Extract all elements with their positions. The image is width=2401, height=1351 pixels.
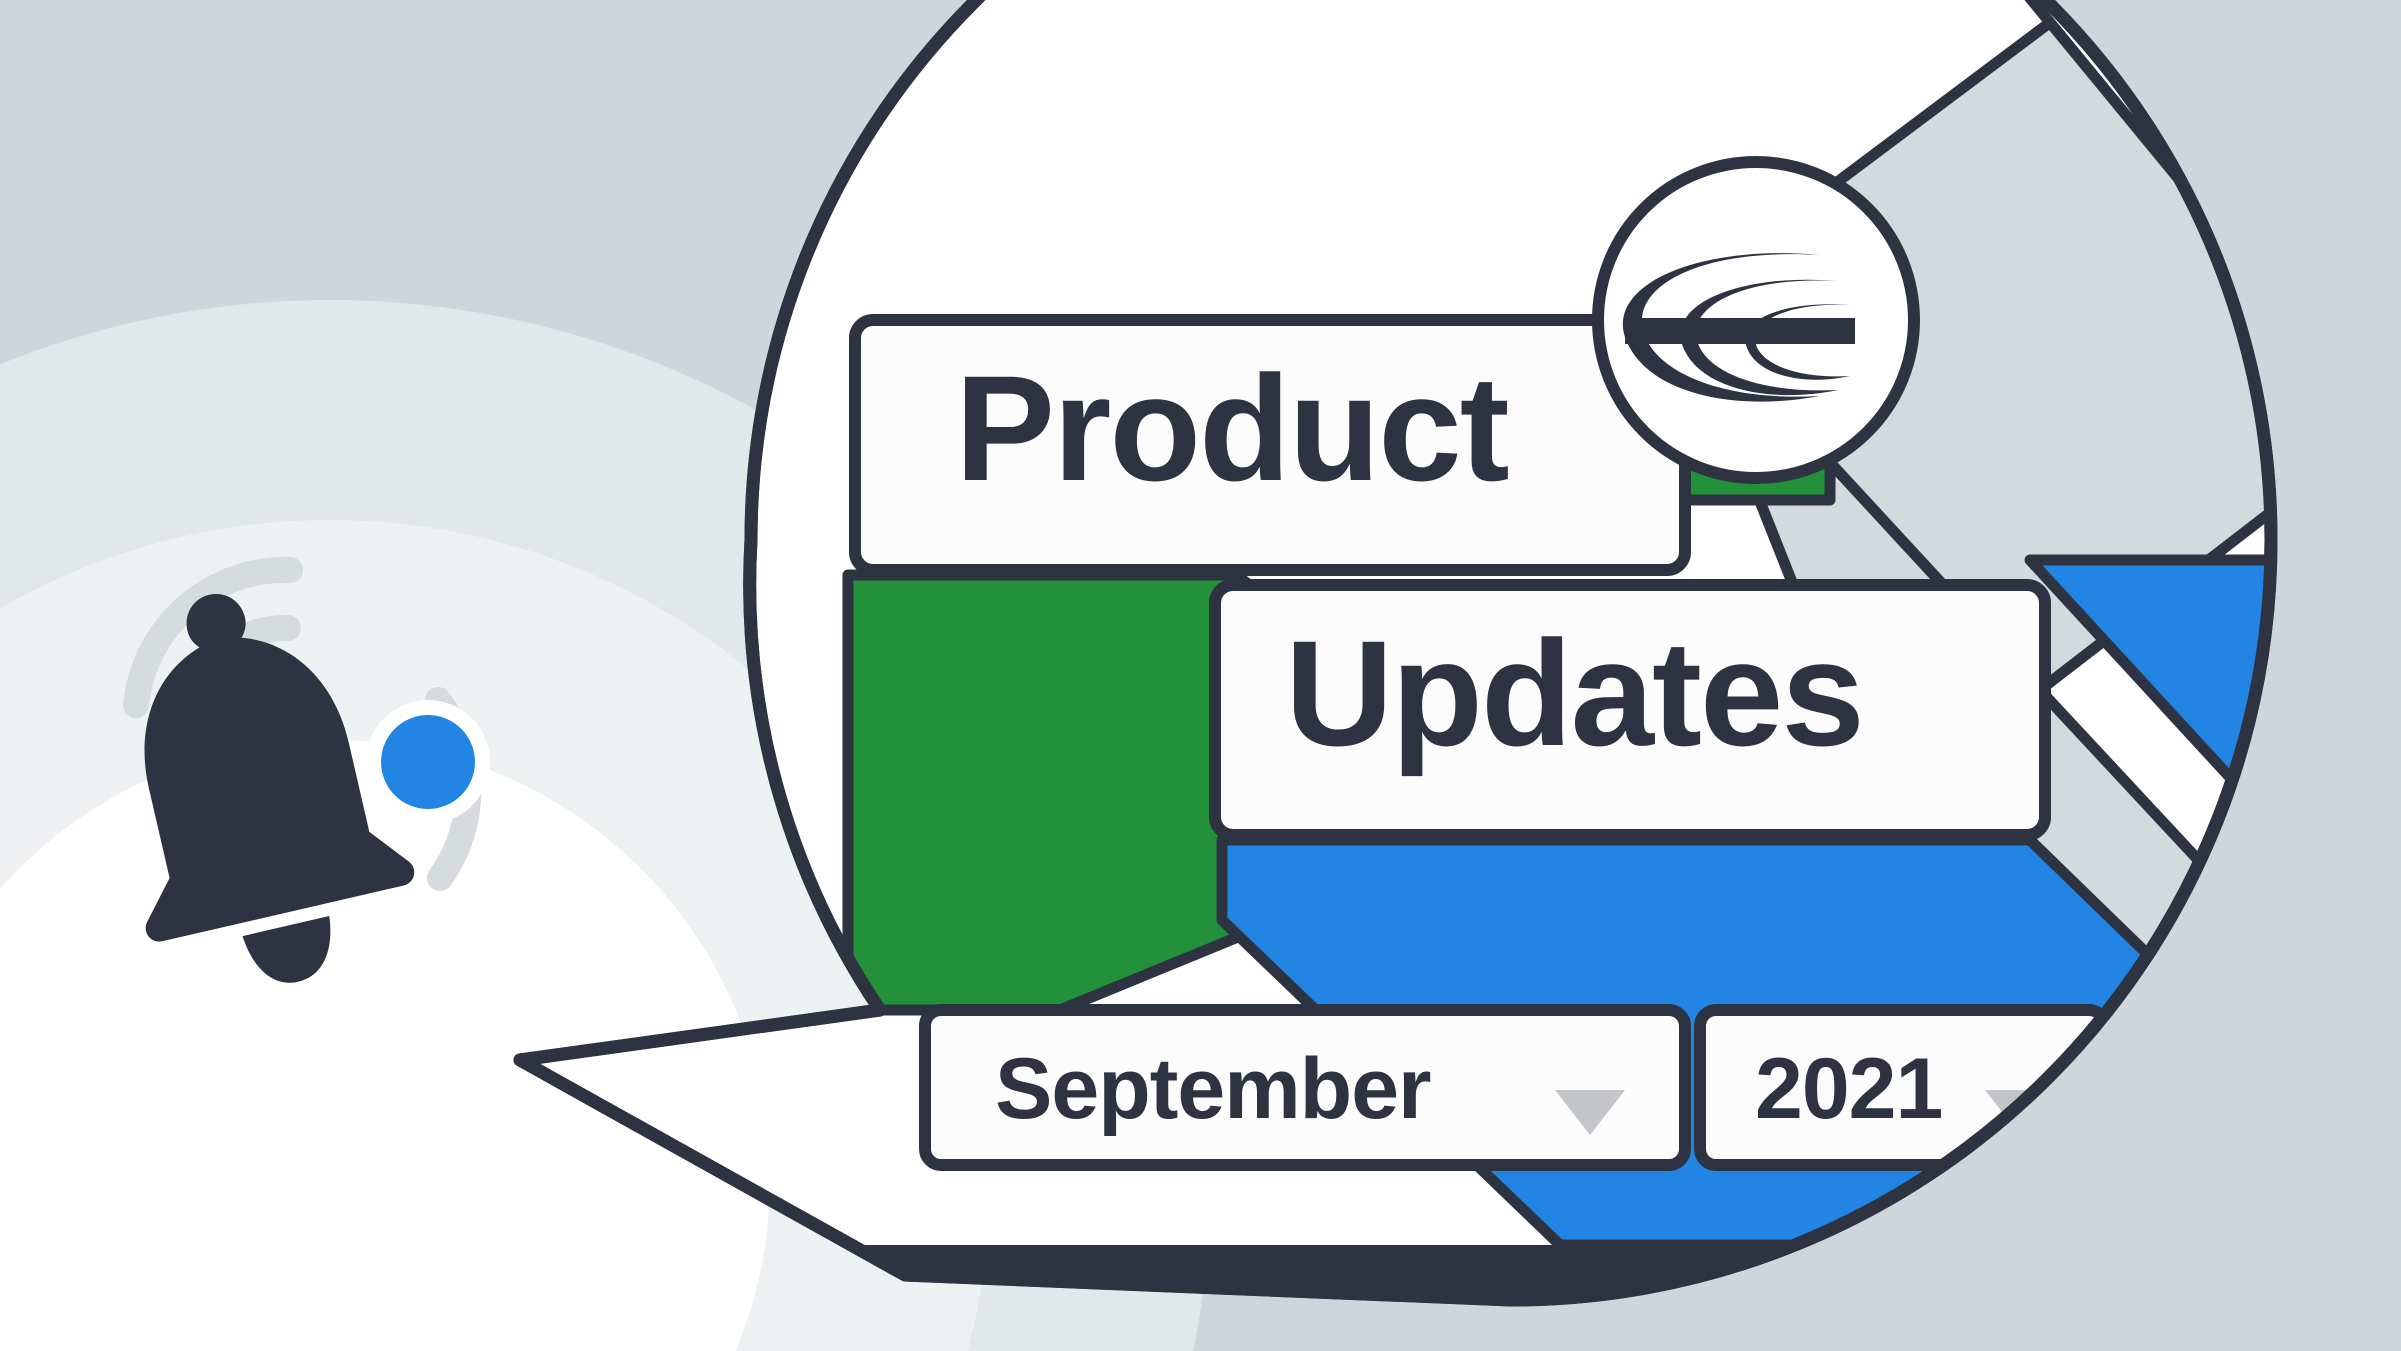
- headline-line-1: Product: [955, 344, 1509, 512]
- product-updates-hero-banner: Product Updates September 2021: [0, 0, 2401, 1351]
- headline-card-product: Product: [855, 320, 1685, 570]
- month-selector[interactable]: September: [925, 1010, 1685, 1165]
- brand-logo-badge[interactable]: [1598, 162, 1914, 478]
- headline-card-updates: Updates: [1215, 585, 2045, 835]
- month-selector-value: September: [995, 1041, 1431, 1137]
- year-selector-value: 2021: [1755, 1041, 1942, 1137]
- unread-badge-dot: [381, 715, 475, 809]
- hero-illustration: Product Updates September 2021: [0, 0, 2401, 1351]
- headline-line-2: Updates: [1285, 609, 1863, 777]
